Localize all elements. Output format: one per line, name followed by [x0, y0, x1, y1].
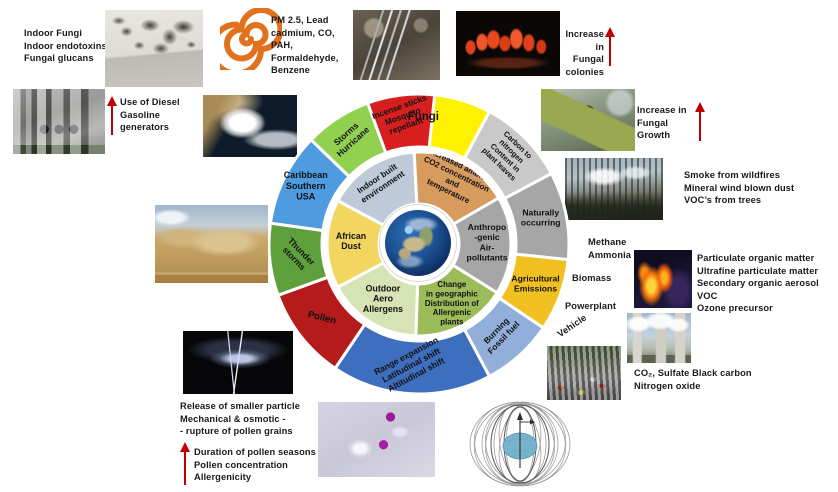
dust-storm-photo	[155, 205, 268, 283]
annotation-particulates: Particulate organic matter Ultrafine par…	[697, 252, 819, 315]
pollen-micrograph-photo	[318, 402, 435, 477]
incense-sticks-photo	[353, 10, 440, 80]
orange-fungal-colonies-photo	[456, 11, 560, 76]
infographic-canvas: Indoor Fungi Indoor endotoxins Fungal gl…	[0, 0, 838, 492]
wildfire-smoke-photo	[565, 158, 663, 220]
diesel-generator-photo	[13, 89, 105, 154]
red-up-arrow-icon-pollen	[179, 442, 191, 486]
red-up-arrow-icon-fungal-growth	[694, 102, 706, 142]
red-up-arrow-icon	[106, 96, 118, 136]
magnetic-field-icon	[450, 398, 590, 490]
power-plant-photo	[627, 313, 691, 363]
annotation-pm25: PM 2.5, Lead cadmium, CO, PAH, Formaldeh…	[271, 14, 338, 77]
annotation-diesel-generators: Use of Diesel Gasoline generators	[120, 96, 180, 134]
wheel-outer-label-naturally-occurring: Naturallyoccurring	[521, 207, 561, 227]
mold-on-wall-photo	[105, 10, 203, 87]
annotation-fungal-colonies: Increase in Fungal colonies	[564, 28, 604, 78]
annotation-pollen-release: Release of smaller particle Mechanical &…	[180, 400, 300, 438]
annotation-fungal-growth: Increase in Fungal Growth	[637, 104, 687, 142]
earth-globe-icon	[385, 210, 451, 276]
red-up-arrow-icon-fungal-colonies	[604, 27, 616, 67]
annotation-co2-sulfate: CO₂, Sulfate Black carbon Nitrogen oxide	[634, 367, 752, 392]
annotation-methane-ammonia: Methane Ammonia	[588, 236, 631, 261]
annotation-biomass: Biomass	[572, 272, 611, 285]
wheel-outer-label-agricultural-emissions: AgriculturalEmissions	[511, 273, 559, 293]
annotation-powerplant: Powerplant	[565, 300, 616, 313]
annotation-indoor-fungi: Indoor Fungi Indoor endotoxins Fungal gl…	[24, 27, 107, 65]
biomass-fire-photo	[634, 250, 692, 308]
annotation-pollen-seasons: Duration of pollen seasons Pollen concen…	[194, 446, 316, 484]
annotation-wildfires: Smoke from wildfires Mineral wind blown …	[684, 169, 794, 207]
